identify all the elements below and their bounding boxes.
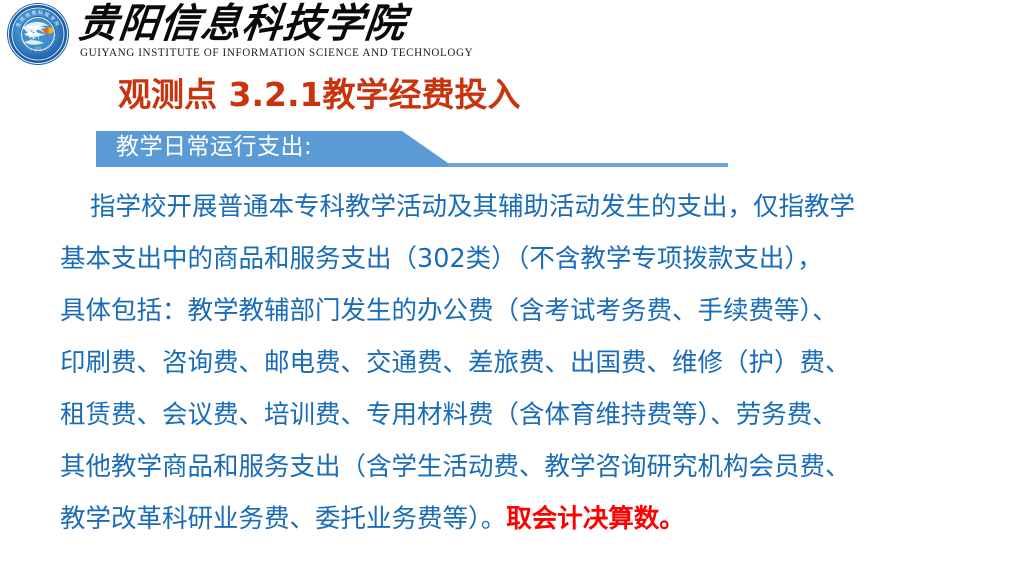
letterhead: 贵阳信息科技学院 GUIYANG INSTITUTE OF INFORMATIO… (0, 0, 420, 70)
body-line: 其他教学商品和服务支出（含学生活动费、教学咨询研究机构会员费、 (60, 441, 1004, 493)
page-title: 观测点 3.2.1教学经费投入 (118, 74, 520, 116)
body-line: 基本支出中的商品和服务支出（302类）（不含教学专项拨款支出）， (60, 233, 1004, 285)
body-line: 指学校开展普通本专科教学活动及其辅助活动发生的支出，仅指教学 (60, 181, 1004, 233)
body-line: 具体包括：教学教辅部门发生的办公费（含考试考务费、手续费等）、 (60, 285, 1004, 337)
body-emphasis-text: 取会计决算数。 (506, 504, 685, 534)
body-line: 印刷费、咨询费、邮电费、交通费、差旅费、出国费、维修（护）费、 (60, 337, 1004, 389)
body-line-final: 教学改革科研业务费、委托业务费等）。取会计决算数。 (60, 493, 1004, 545)
svg-text:2001: 2001 (34, 47, 41, 51)
university-seal-icon: 贵阳信息科技学院 GUIYANG INSTITUTE OF INFORMATIO… (6, 2, 70, 66)
body-line: 租赁费、会议费、培训费、专用材料费（含体育维持费等）、劳务费、 (60, 389, 1004, 441)
section-banner: 教学日常运行支出: (96, 129, 728, 171)
school-name-chinese: 贵阳信息科技学院 (75, 0, 412, 48)
body-line-final-text: 教学改革科研业务费、委托业务费等）。 (60, 504, 506, 534)
slide-canvas: 贵阳信息科技学院 GUIYANG INSTITUTE OF INFORMATIO… (0, 0, 1024, 576)
body-paragraph: 指学校开展普通本专科教学活动及其辅助活动发生的支出，仅指教学 基本支出中的商品和… (60, 181, 1004, 545)
school-name-english: GUIYANG INSTITUTE OF INFORMATION SCIENCE… (80, 46, 405, 60)
section-banner-label: 教学日常运行支出: (116, 129, 312, 166)
